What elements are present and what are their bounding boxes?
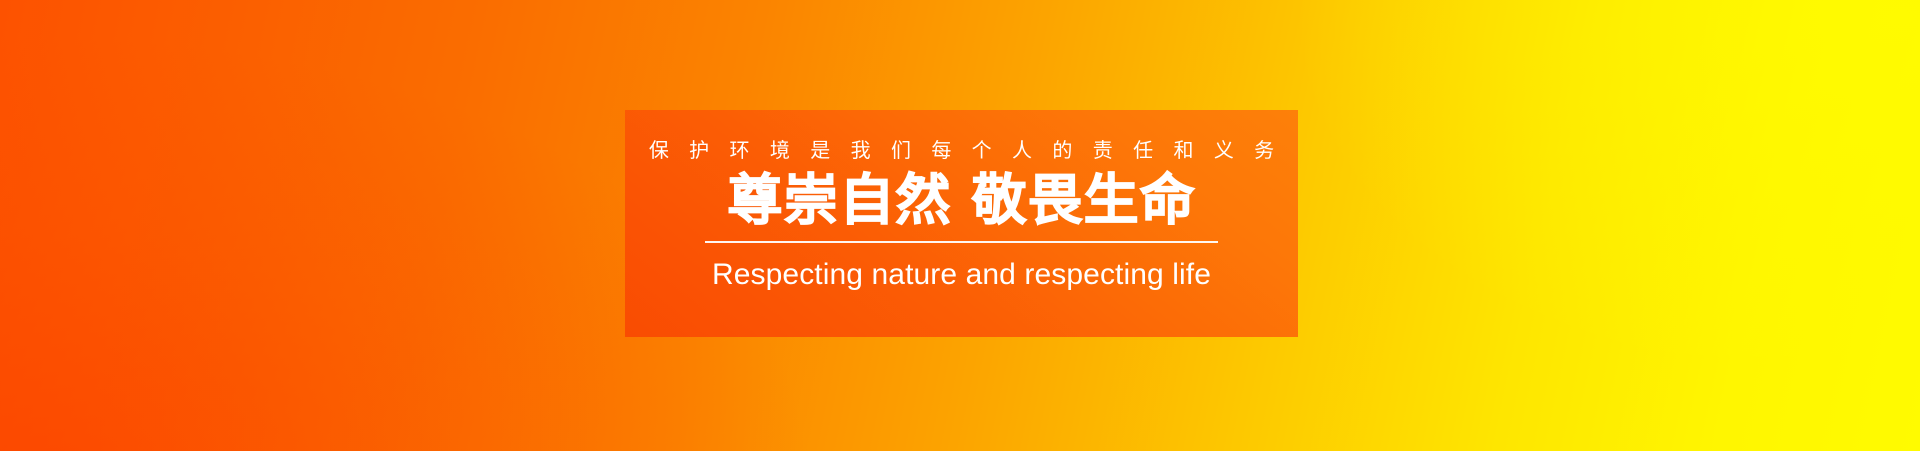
slogan-headline-text: 尊崇自然 敬畏生命 xyxy=(727,170,1195,232)
banner-stage: 保 护 环 境 是 我 们 每 个 人 的 责 任 和 义 务 尊崇自然 敬畏生… xyxy=(0,0,1920,451)
slogan-subtitle-text: Respecting nature and respecting life xyxy=(712,258,1211,291)
slogan-kicker-text: 保 护 环 境 是 我 们 每 个 人 的 责 任 和 义 务 xyxy=(642,140,1281,160)
slogan-panel: 保 护 环 境 是 我 们 每 个 人 的 责 任 和 义 务 尊崇自然 敬畏生… xyxy=(625,110,1298,337)
slogan-divider-rule xyxy=(705,241,1218,243)
